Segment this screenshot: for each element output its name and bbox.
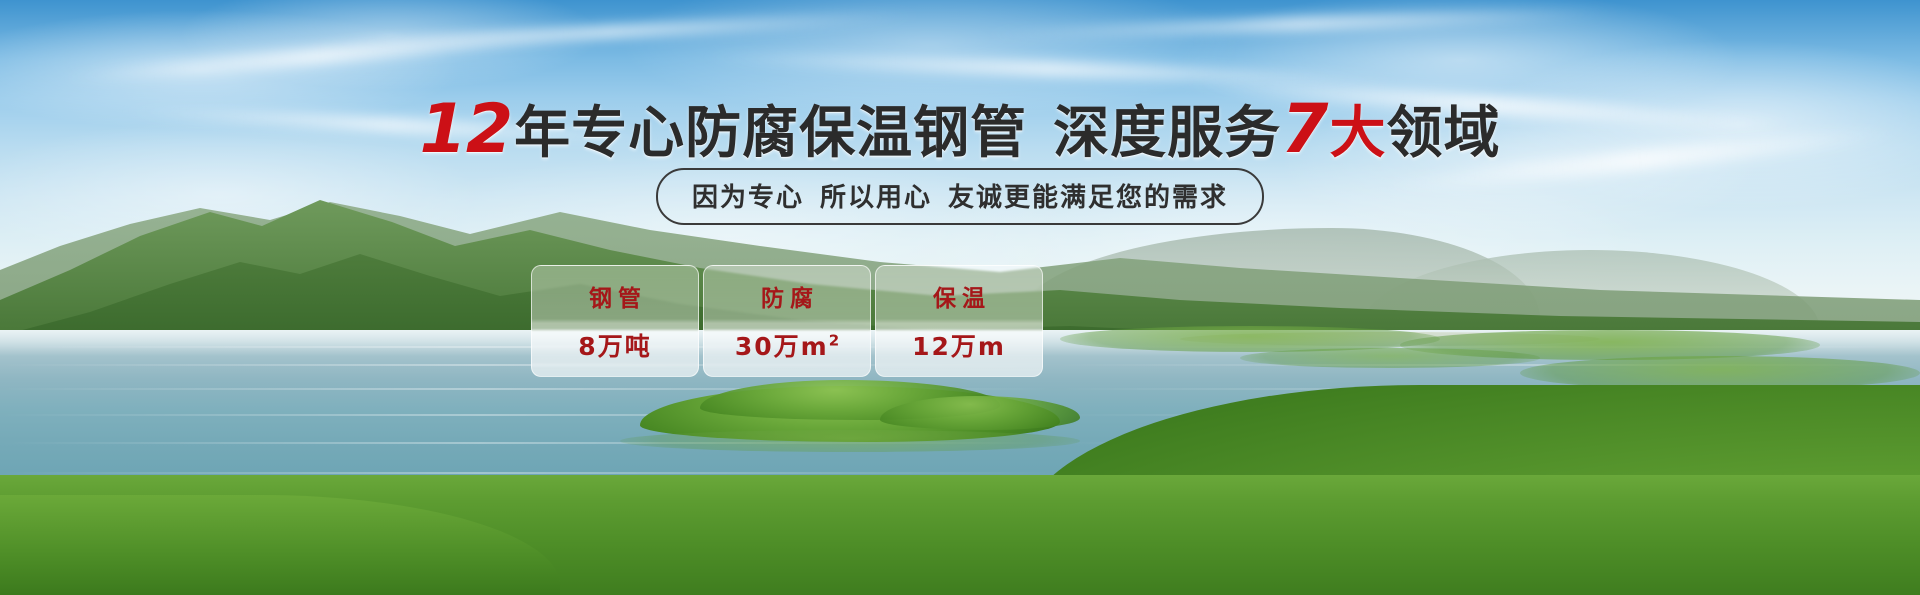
stat-card-title: 防腐: [755, 279, 819, 313]
stat-card-value: 12万m: [912, 327, 1006, 363]
stat-card-steel-pipe: 钢管 8万吨: [531, 265, 699, 377]
stat-card-list: 钢管 8万吨 防腐 30万m2 保温 12万m: [531, 265, 1043, 377]
stat-value-text: 8万吨: [578, 332, 651, 361]
stat-card-anticorrosion: 防腐 30万m2: [703, 265, 871, 377]
headline-years-unit: 年: [514, 101, 571, 166]
subtitle-part-2: 所以用心: [820, 183, 932, 213]
headline-fields-highlight: 大: [1329, 101, 1386, 166]
stat-value-text: 30万m: [735, 332, 829, 361]
stat-card-value: 8万吨: [578, 327, 651, 363]
headline-years-number: 12: [420, 90, 513, 169]
subtitle-container: 因为专心所以用心友诚更能满足您的需求: [0, 168, 1920, 225]
stat-value-sup: 2: [829, 332, 839, 350]
stat-card-title: 钢管: [583, 279, 647, 313]
page-title: 12年专心防腐保温钢管深度服务7大领域: [0, 88, 1920, 169]
headline-fields-number: 7: [1281, 90, 1327, 169]
stat-card-value: 30万m2: [735, 327, 839, 363]
headline-second-prefix: 深度服务: [1053, 101, 1281, 166]
headline-main: 专心防腐保温钢管: [571, 101, 1027, 166]
banner-content: 12年专心防腐保温钢管深度服务7大领域 因为专心所以用心友诚更能满足您的需求 钢…: [0, 0, 1920, 595]
hero-banner: 12年专心防腐保温钢管深度服务7大领域 因为专心所以用心友诚更能满足您的需求 钢…: [0, 0, 1920, 595]
stat-card-insulation: 保温 12万m: [875, 265, 1043, 377]
subtitle-part-3: 友诚更能满足您的需求: [948, 183, 1228, 213]
stat-card-title: 保温: [927, 279, 991, 313]
stat-value-text: 12万m: [912, 332, 1006, 361]
subtitle-part-1: 因为专心: [692, 183, 804, 213]
subtitle-pill: 因为专心所以用心友诚更能满足您的需求: [656, 168, 1264, 225]
headline-second-suffix: 领域: [1386, 101, 1500, 166]
